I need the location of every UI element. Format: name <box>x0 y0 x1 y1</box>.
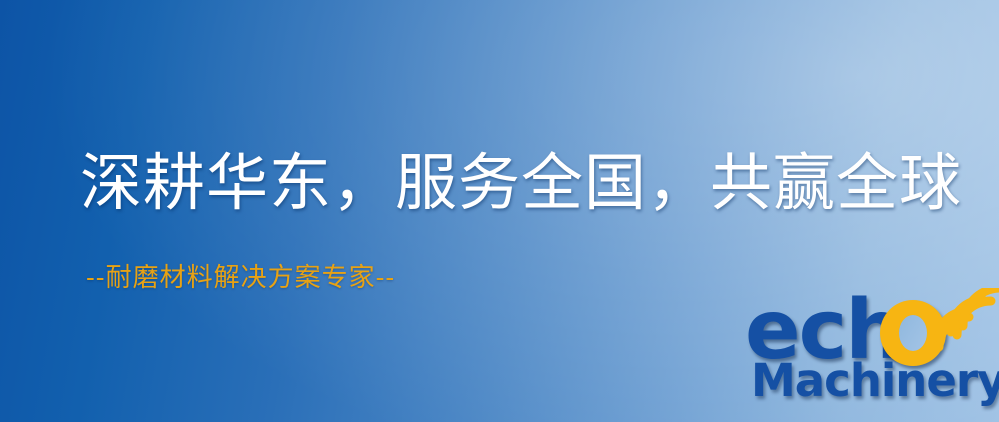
signal-waves-icon <box>931 288 999 360</box>
logo-letter-o-counter <box>899 315 927 351</box>
logo-wordmark-machinery: Machinery® <box>751 358 999 403</box>
banner-headline: 深耕华东，服务全国，共赢全球 <box>80 152 962 214</box>
logo-machinery-text: Machinery <box>751 354 999 407</box>
hero-banner: 深耕华东，服务全国，共赢全球 --耐磨材料解决方案专家-- ech Machin… <box>0 0 999 422</box>
echo-machinery-logo[interactable]: ech Machinery® <box>745 296 999 422</box>
banner-subtitle: --耐磨材料解决方案专家-- <box>86 265 395 291</box>
